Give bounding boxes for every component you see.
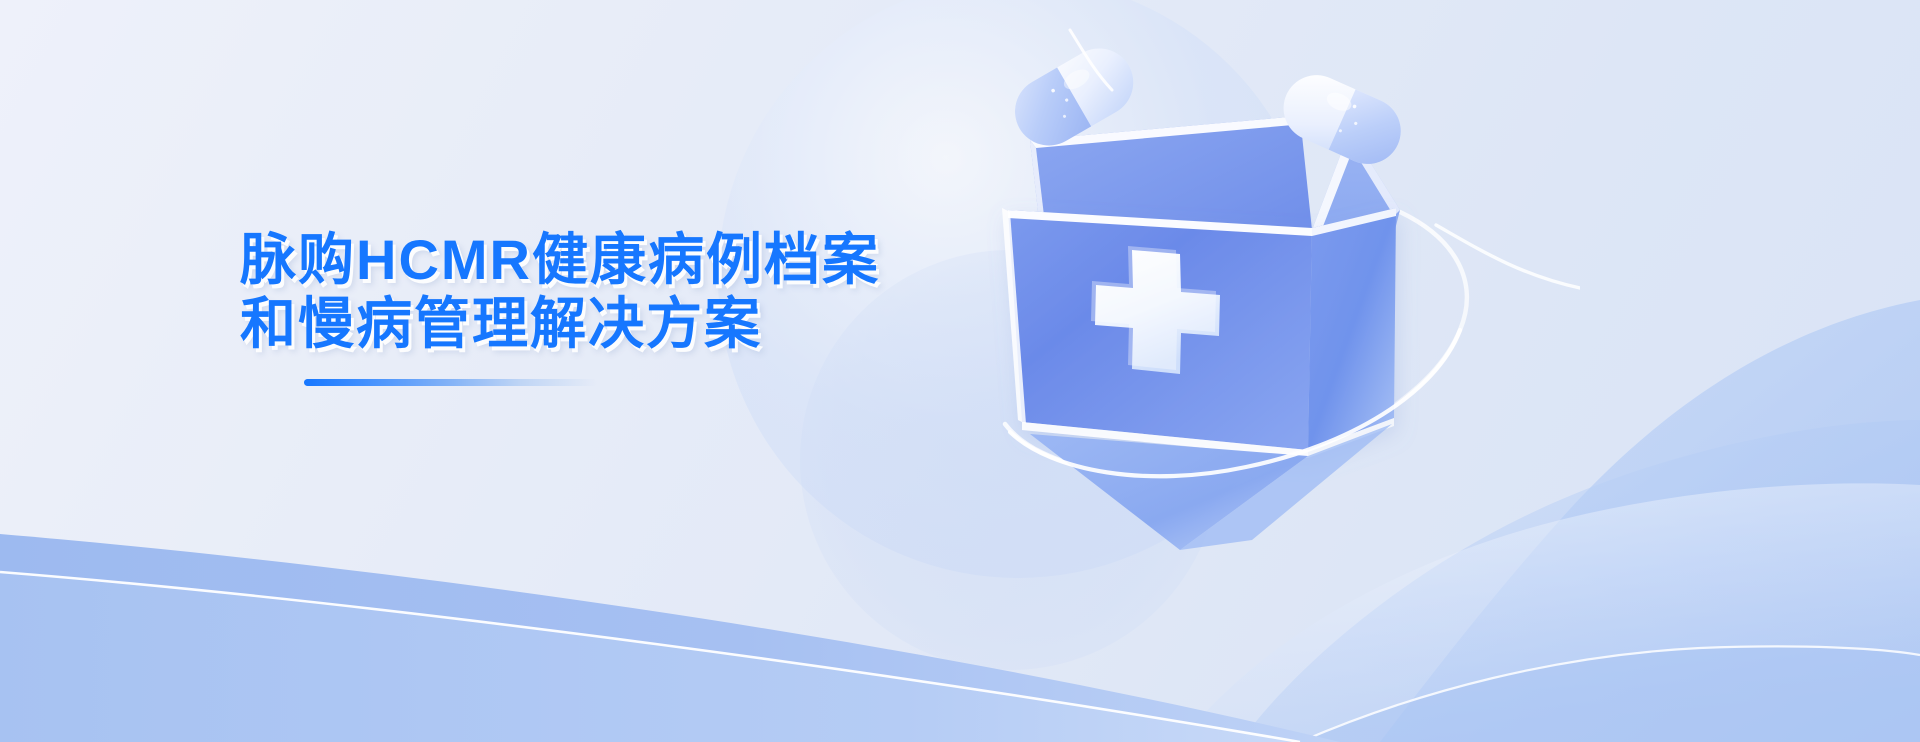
headline-underline-rule [304, 379, 597, 386]
medical-box-illustration [880, 20, 1580, 580]
hero-banner: 脉购HCMR健康病例档案 和慢病管理解决方案 [0, 0, 1920, 742]
medical-box-svg [880, 20, 1580, 580]
